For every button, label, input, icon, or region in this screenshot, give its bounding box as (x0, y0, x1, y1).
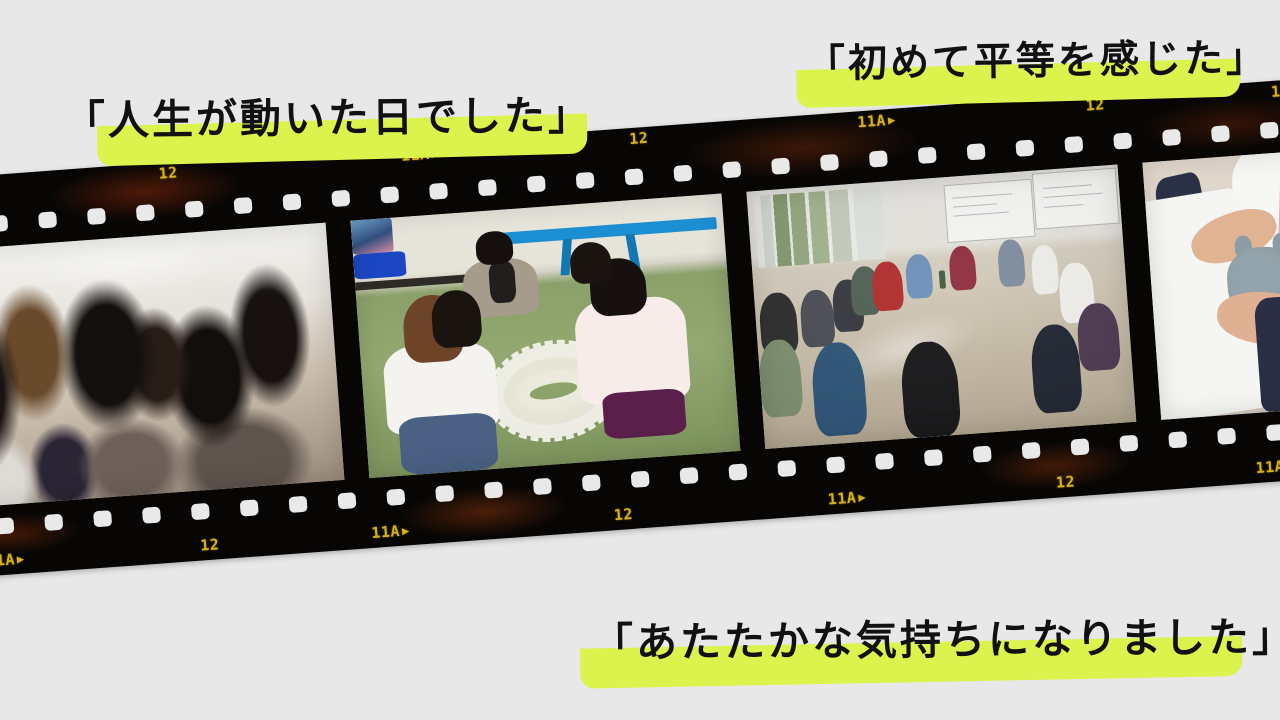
film-advance-arrow-icon: ▶ (16, 552, 25, 567)
circle-participant (831, 279, 864, 333)
testimonial-caption-bottom-right: 「あたたかな気持ちになりました」 (592, 617, 1280, 664)
circle-participant (1030, 244, 1060, 295)
slide-canvas: 11A▶ 12 11A▶ 12 11A▶ 12 11A▶ (0, 0, 1280, 720)
perforation-hole (967, 143, 986, 160)
perforation-hole (679, 467, 698, 484)
tshirt-graphic (350, 218, 393, 254)
perforation-hole (484, 481, 503, 498)
perforation-hole (1211, 125, 1230, 142)
film-advance-arrow-icon: ▶ (858, 490, 867, 505)
photo-frame[interactable] (746, 164, 1136, 449)
edge-code: 12 (200, 535, 220, 554)
facilitator-head (474, 230, 514, 266)
perforation-hole (136, 204, 155, 221)
circle-participant (948, 245, 977, 291)
testimonial-caption-top-right: 「初めて平等を感じた」 (806, 39, 1269, 84)
perforation-hole (1162, 129, 1181, 146)
perforation-hole (44, 514, 63, 531)
blue-floor-mat (353, 250, 407, 280)
perforation-hole (1070, 438, 1089, 455)
perforation-hole (191, 503, 210, 520)
testimonial-caption-text: 「人生が動いた日でした」 (64, 91, 592, 145)
perforation-hole (582, 474, 601, 491)
edge-code: 11A▶ (371, 521, 411, 542)
testimonial-caption-top-left: 「人生が動いた日でした」 (64, 95, 592, 142)
film-advance-arrow-icon: ▶ (401, 523, 410, 538)
perforation-hole (771, 157, 790, 174)
photo-group-hug (0, 223, 344, 509)
perforation-hole (826, 456, 845, 473)
perforation-hole (875, 453, 894, 470)
photo-labyrinth-cards (350, 194, 740, 479)
perforation-hole (533, 478, 552, 495)
whiteboard (1032, 167, 1120, 229)
photo-frame[interactable] (0, 223, 344, 509)
perforation-hole (0, 517, 14, 534)
perforation-hole (728, 463, 747, 480)
photo-sharing-circle (746, 164, 1136, 449)
perforation-hole (1022, 442, 1041, 459)
perforation-hole (282, 193, 301, 210)
edge-code: 11A▶ (827, 488, 867, 509)
perforation-hole (1119, 435, 1138, 452)
edge-code: 12 (613, 505, 633, 524)
perforation-hole (234, 197, 253, 214)
blue-bench (486, 217, 717, 245)
window-wall (754, 187, 885, 268)
perforation-hole (93, 510, 112, 527)
perforation-hole (1260, 122, 1279, 139)
circle-participant (758, 292, 800, 356)
edge-code: 12 (1055, 472, 1075, 491)
perforation-hole (673, 165, 692, 182)
edge-code: 11A▶ (1270, 80, 1280, 101)
perforation-hole (337, 492, 356, 509)
participant-left-jeans (399, 412, 500, 476)
participant-right-head-2 (568, 241, 612, 285)
perforation-hole (624, 168, 643, 185)
edge-code: 12 (158, 163, 178, 182)
edge-code: 11A▶ (0, 550, 25, 571)
edge-code: 12 (629, 129, 649, 148)
perforation-hole (289, 496, 308, 513)
circle-participant (1029, 323, 1084, 414)
testimonial-caption-text: 「あたたかな気持ちになりました」 (592, 613, 1280, 667)
perforation-hole (576, 172, 595, 189)
photo-frame[interactable] (350, 194, 740, 479)
perforation-hole (38, 211, 57, 228)
floor-light-reflection (820, 297, 986, 400)
circle-participant (899, 339, 962, 438)
perforation-hole (1266, 424, 1280, 441)
perforation-hole (87, 208, 106, 225)
perforation-hole (435, 485, 454, 502)
water-bottle (939, 270, 946, 288)
circle-participant (904, 253, 933, 299)
perforation-hole (185, 201, 204, 218)
circle-participant (798, 289, 836, 348)
circle-participant (757, 338, 803, 418)
circle-participant (871, 261, 904, 312)
perforation-hole (331, 190, 350, 207)
perforation-hole (380, 186, 399, 203)
whiteboard (944, 179, 1036, 244)
perforation-hole (386, 489, 405, 506)
circle-participant (810, 341, 869, 437)
perforation-hole (478, 179, 497, 196)
perforation-hole (527, 175, 546, 192)
perforation-hole (1113, 132, 1132, 149)
photo-frame[interactable] (1142, 147, 1280, 420)
perforation-hole (1217, 428, 1236, 445)
film-advance-arrow-icon: ▶ (887, 113, 896, 128)
circle-participant (1058, 262, 1096, 324)
perforation-hole (240, 499, 259, 516)
perforation-hole (777, 460, 796, 477)
edge-code: 11A▶ (857, 111, 897, 132)
edge-code: 11A▶ (1255, 456, 1280, 477)
facilitator-shirt (488, 261, 517, 304)
photo-frame-row (0, 148, 1280, 510)
perforation-hole (0, 215, 8, 232)
perforation-hole (1015, 140, 1034, 157)
testimonial-caption-text: 「初めて平等を感じた」 (806, 36, 1269, 87)
circle-participant (849, 265, 882, 316)
circle-participant (996, 239, 1025, 287)
perforation-hole (722, 161, 741, 178)
perforation-hole (820, 154, 839, 171)
perforation-hole (631, 471, 650, 488)
perforation-hole (918, 147, 937, 164)
perforation-hole (429, 183, 448, 200)
perforation-hole (869, 150, 888, 167)
perforation-hole (924, 449, 943, 466)
perforation-hole (1168, 431, 1187, 448)
circle-participant (1075, 302, 1121, 372)
perforation-hole (973, 445, 992, 462)
participant-right-shorts (602, 388, 687, 440)
photo-plush-handoff (1142, 147, 1280, 420)
perforation-hole (142, 507, 161, 524)
perforation-hole (1064, 136, 1083, 153)
